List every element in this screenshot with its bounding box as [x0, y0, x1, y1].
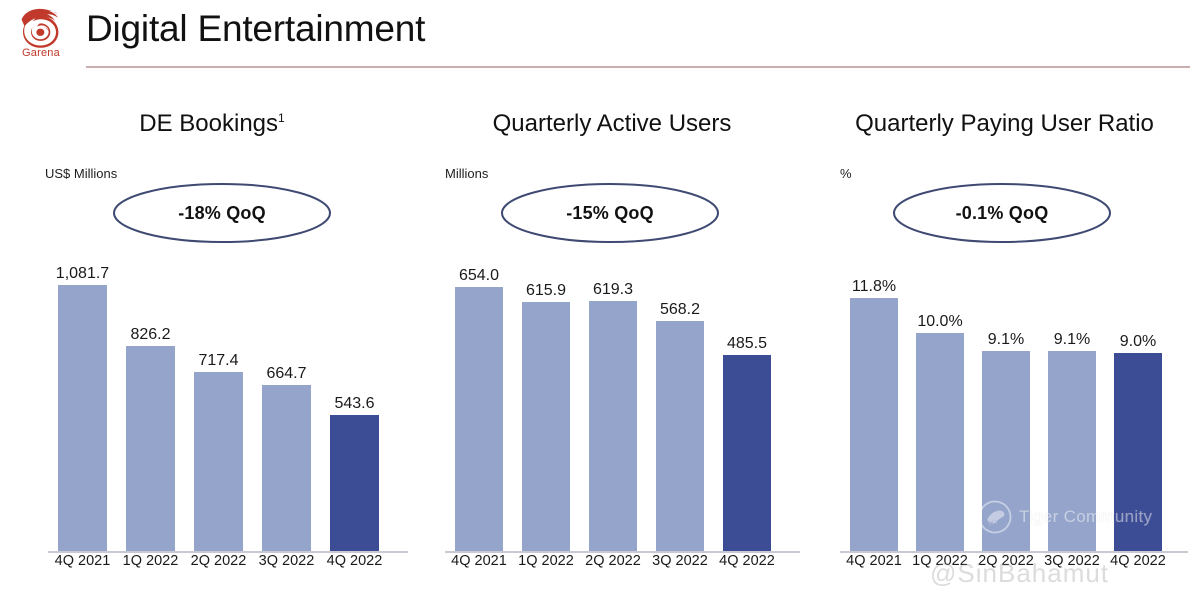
bar-value-4: 543.6 — [310, 395, 399, 413]
bar-0 — [455, 287, 503, 551]
qoq-callout: -0.1% QoQ — [892, 182, 1112, 244]
bar-1 — [126, 346, 175, 551]
charts-container: DE Bookings1 US$ Millions -18% QoQ 1,081… — [0, 80, 1197, 597]
chart-panel-de-bookings: DE Bookings1 US$ Millions -18% QoQ 1,081… — [12, 80, 412, 597]
x-axis-labels: 4Q 2021 1Q 2022 2Q 2022 3Q 2022 4Q 2022 — [412, 553, 812, 583]
page-header: Garena Digital Entertainment — [0, 0, 1197, 80]
bar-3 — [1048, 351, 1096, 551]
x-label-4: 4Q 2022 — [310, 553, 399, 569]
bar-value-2: 619.3 — [569, 281, 657, 299]
bar-2 — [982, 351, 1030, 551]
chart-title-text: DE Bookings — [139, 110, 278, 137]
x-label-4: 4Q 2022 — [703, 553, 791, 569]
bar-value-4: 485.5 — [703, 335, 791, 353]
bar-3 — [656, 321, 704, 551]
chart-title: DE Bookings1 — [12, 110, 412, 138]
x-axis-labels: 4Q 2021 1Q 2022 2Q 2022 3Q 2022 4Q 2022 — [812, 553, 1197, 583]
chart-title: Quarterly Active Users — [412, 110, 812, 138]
chart-unit-label: US$ Millions — [45, 166, 117, 181]
bar-1 — [916, 333, 964, 551]
chart-plot-area: 1,081.7 826.2 717.4 664.7 543.6 — [12, 250, 412, 553]
x-label-4: 4Q 2022 — [1094, 553, 1182, 569]
qoq-callout-text: -15% QoQ — [500, 182, 720, 244]
qoq-callout: -18% QoQ — [112, 182, 332, 244]
bar-4 — [1114, 353, 1162, 551]
bar-3 — [262, 385, 311, 551]
bar-value-4: 9.0% — [1094, 333, 1182, 351]
bar-4 — [330, 415, 379, 551]
chart-unit-label: Millions — [445, 166, 488, 181]
chart-plot-area: 11.8% 10.0% 9.1% 9.1% 9.0% — [812, 250, 1197, 553]
bar-4 — [723, 355, 771, 551]
chart-unit-label: % — [840, 166, 852, 181]
bar-value-0: 1,081.7 — [38, 265, 127, 283]
bar-0 — [58, 285, 107, 551]
bar-2 — [589, 301, 637, 551]
bar-0 — [850, 298, 898, 551]
chart-panel-quarterly-paying-user-ratio: Quarterly Paying User Ratio % -0.1% QoQ … — [812, 80, 1197, 597]
garena-dragon-icon — [15, 6, 67, 50]
chart-title: Quarterly Paying User Ratio — [812, 110, 1197, 138]
header-divider — [86, 66, 1190, 68]
chart-title-text: Quarterly Paying User Ratio — [855, 110, 1154, 137]
qoq-callout-text: -18% QoQ — [112, 182, 332, 244]
garena-logo-text: Garena — [10, 47, 72, 59]
chart-panel-quarterly-active-users: Quarterly Active Users Millions -15% QoQ… — [412, 80, 812, 597]
qoq-callout-text: -0.1% QoQ — [892, 182, 1112, 244]
bar-1 — [522, 302, 570, 551]
chart-plot-area: 654.0 615.9 619.3 568.2 485.5 — [412, 250, 812, 553]
bar-value-3: 664.7 — [242, 365, 331, 383]
bar-value-1: 10.0% — [896, 313, 984, 331]
bar-value-0: 11.8% — [830, 278, 918, 296]
garena-logo: Garena — [10, 6, 72, 66]
page-title: Digital Entertainment — [86, 8, 425, 50]
bar-value-3: 568.2 — [636, 301, 724, 319]
x-axis-labels: 4Q 2021 1Q 2022 2Q 2022 3Q 2022 4Q 2022 — [12, 553, 412, 583]
bar-value-1: 826.2 — [106, 326, 195, 344]
bar-2 — [194, 372, 243, 551]
qoq-callout: -15% QoQ — [500, 182, 720, 244]
chart-title-text: Quarterly Active Users — [493, 110, 732, 137]
chart-title-footnote: 1 — [278, 111, 285, 125]
